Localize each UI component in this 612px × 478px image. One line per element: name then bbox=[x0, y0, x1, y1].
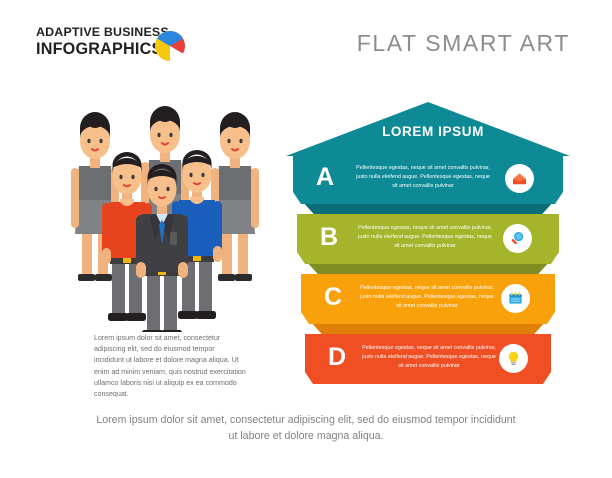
slide-canvas: ADAPTIVE BUSINESS INFOGRAPHICS FLAT SMAR… bbox=[0, 0, 612, 478]
illustration-caption: Lorem ipsum dolor sit amet, consectetur … bbox=[94, 333, 246, 400]
magnifier-icon[interactable] bbox=[503, 224, 532, 253]
calendar-icon[interactable] bbox=[501, 284, 530, 313]
lightbulb-icon[interactable] bbox=[499, 344, 528, 373]
band-letter-c: C bbox=[313, 283, 353, 312]
chevron-stack: LOREM IPSUM A Pellentesque egestas, nequ… bbox=[283, 100, 573, 390]
band-text-d: Pellentesque egestas, neque sit amet con… bbox=[359, 344, 499, 370]
band-letter-b: B bbox=[309, 223, 349, 252]
band-letter-d: D bbox=[317, 343, 357, 372]
band-text-c: Pellentesque egestas, neque sit amet con… bbox=[357, 284, 497, 310]
band-letter-a: A bbox=[305, 163, 345, 192]
flat-business-team-illustration bbox=[62, 100, 268, 332]
house-icon[interactable] bbox=[505, 164, 534, 193]
chevron-peak-title: LOREM IPSUM bbox=[343, 124, 523, 139]
tricolor-pie-circle-icon bbox=[155, 31, 185, 61]
band-text-a: Pellentesque egestas, neque sit amet con… bbox=[353, 164, 493, 190]
band-text-b: Pellentesque egestas, neque sit amet con… bbox=[355, 224, 495, 250]
footer-caption: Lorem ipsum dolor sit amet, consectetur … bbox=[96, 412, 516, 445]
page-title: FLAT SMART ART bbox=[357, 30, 570, 57]
